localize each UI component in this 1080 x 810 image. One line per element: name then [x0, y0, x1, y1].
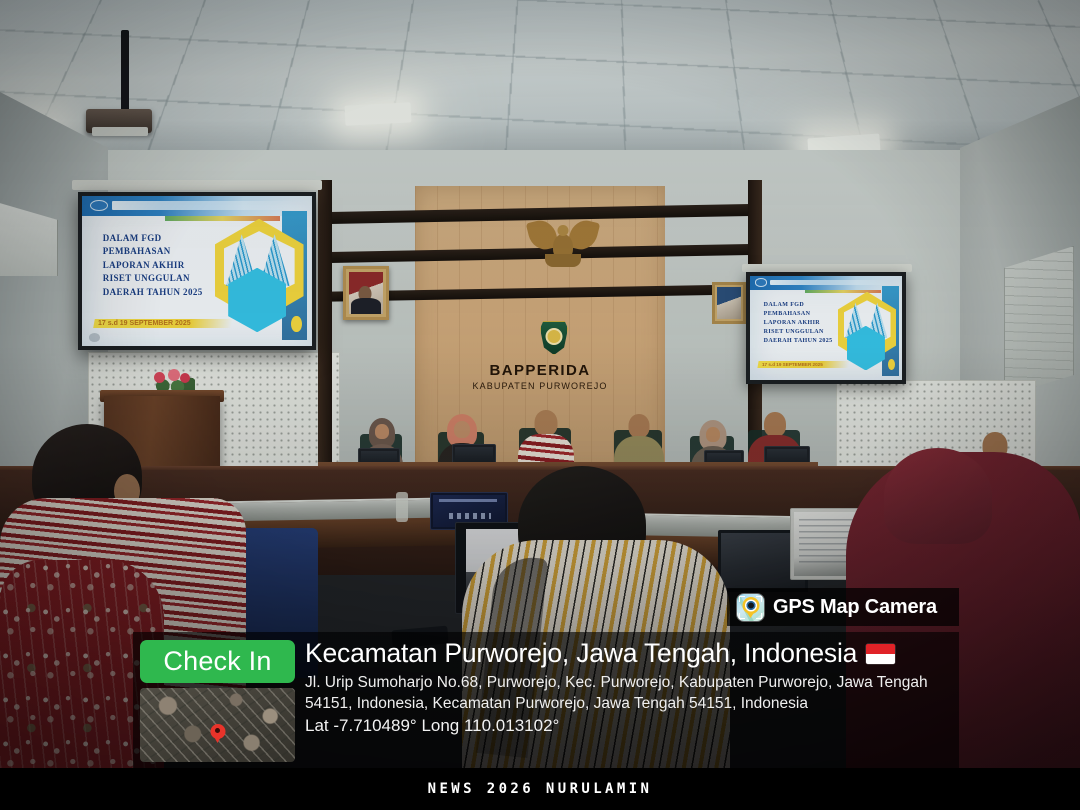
- ac-louvers: [0, 342, 52, 384]
- projection-screen-roller: [742, 264, 912, 272]
- slide-dot-accent: [291, 316, 302, 333]
- projection-screen-left: DALAM FGD PEMBAHASAN LAPORAN AKHIR RISET…: [78, 192, 316, 350]
- panel-member: [521, 410, 571, 470]
- slide-title-line: DAERAH TAHUN 2025: [103, 286, 223, 299]
- slide-date-banner: 17 s.d 19 SEPTEMBER 2025: [757, 361, 849, 368]
- slide-date-text: 17 s.d 19 SEPTEMBER 2025: [98, 320, 228, 327]
- projector-mount: [121, 30, 129, 112]
- slide-title-line: PEMBAHASAN: [764, 310, 843, 319]
- venue-sign-subtitle: KABUPATEN PURWOREJO: [415, 381, 665, 391]
- portrait-suit: [351, 298, 381, 314]
- gps-panel-right: Kecamatan Purworejo, Jawa Tengah, Indone…: [305, 638, 953, 736]
- slide-title-line: PEMBAHASAN: [103, 245, 223, 258]
- camera-lens-icon: [746, 601, 755, 610]
- venue-sign-title: BAPPERIDA: [415, 362, 665, 379]
- footer-bar: NEWS 2026 NURULAMIN: [0, 768, 1080, 810]
- screen-text-line: [439, 499, 497, 502]
- window: [1004, 246, 1074, 396]
- water-bottle: [396, 492, 408, 522]
- face: [454, 421, 470, 438]
- slide-title-line: DALAM FGD: [764, 301, 843, 310]
- location-coordinates: Lat -7.710489° Long 110.013102°: [305, 716, 953, 736]
- gps-panel-left: Check In: [140, 640, 298, 762]
- official-portrait-frame: [712, 282, 746, 324]
- wall-trim-column: [318, 180, 332, 480]
- projector-base: [92, 127, 148, 136]
- screen-icon-row: [449, 513, 491, 519]
- garuda-head: [558, 225, 569, 236]
- slide-title-line: LAPORAN AKHIR: [103, 259, 223, 272]
- slide-logo-icon: [90, 200, 108, 212]
- check-in-badge: Check In: [140, 640, 295, 683]
- projection-screen-right: DALAM FGD PEMBAHASAN LAPORAN AKHIR RISET…: [746, 272, 906, 384]
- indonesia-flag-icon: [866, 644, 895, 664]
- slide-corner-mark: [89, 333, 101, 342]
- map-pin-icon: [210, 724, 225, 739]
- slide-date-text: 17 s.d 19 SEPTEMBER 2025: [762, 362, 845, 367]
- garuda-tail: [545, 254, 581, 267]
- viewfinder-bracket-icon: [756, 613, 762, 619]
- location-address: Jl. Urip Sumoharjo No.68, Purworejo, Kec…: [305, 672, 953, 714]
- flower-bloom: [154, 372, 165, 383]
- gps-map-camera-brand-bar: GPS Map Camera: [727, 588, 959, 626]
- presentation-slide: DALAM FGD PEMBAHASAN LAPORAN AKHIR RISET…: [750, 276, 902, 380]
- slide-title-line: DALAM FGD: [103, 232, 223, 245]
- slide-title-line: RISET UNGGULAN: [103, 272, 223, 285]
- face: [706, 427, 720, 442]
- location-title: Kecamatan Purworejo, Jawa Tengah, Indone…: [305, 638, 857, 669]
- presentation-slide: DALAM FGD PEMBAHASAN LAPORAN AKHIR RISET…: [82, 196, 312, 346]
- slide-title-line: RISET UNGGULAN: [764, 328, 843, 337]
- gps-info-panel: Check In Kecamatan Purworejo, Jawa Tenga…: [133, 632, 959, 768]
- face: [629, 414, 650, 438]
- slide-header-text: [112, 201, 296, 210]
- flower-bloom: [180, 373, 190, 383]
- portrait-image: [349, 272, 383, 314]
- crest-emblem: [548, 330, 561, 343]
- slide-title-line: LAPORAN AKHIR: [764, 319, 843, 328]
- gps-map-camera-logo-icon: [737, 594, 764, 621]
- gps-map-camera-brand-name: GPS Map Camera: [773, 596, 937, 619]
- face: [375, 424, 389, 439]
- air-conditioner-unit: [0, 202, 58, 276]
- location-title-row: Kecamatan Purworejo, Jawa Tengah, Indone…: [305, 638, 953, 669]
- flower-bloom: [168, 369, 180, 381]
- viewfinder-bracket-icon: [739, 596, 745, 602]
- hijab-crown: [884, 448, 992, 544]
- footer-watermark: NEWS 2026 NURULAMIN: [428, 781, 653, 797]
- map-thumbnail: [140, 688, 295, 762]
- slide-title-block: DALAM FGD PEMBAHASAN LAPORAN AKHIR RISET…: [103, 232, 223, 299]
- slide-date-banner: 17 s.d 19 SEPTEMBER 2025: [93, 319, 233, 328]
- projection-screen-roller: [72, 180, 322, 190]
- portrait-image: [717, 287, 741, 319]
- slide-title-line: DAERAH TAHUN 2025: [764, 337, 843, 346]
- viewfinder-bracket-icon: [739, 613, 745, 619]
- slide-header-text: [770, 280, 892, 286]
- ac-vent: [0, 321, 47, 339]
- ceiling-light-icon: [345, 102, 412, 125]
- face: [535, 410, 558, 436]
- official-portrait-frame: [343, 266, 389, 320]
- viewfinder-bracket-icon: [756, 596, 762, 602]
- garuda-pancasila-emblem-icon: [527, 216, 599, 274]
- screenshot-root: BAPPERIDA KABUPATEN PURWOREJO: [0, 0, 1080, 810]
- slide-title-block: DALAM FGD PEMBAHASAN LAPORAN AKHIR RISET…: [764, 301, 843, 346]
- slide-logo-icon: [755, 278, 767, 286]
- face: [764, 412, 786, 437]
